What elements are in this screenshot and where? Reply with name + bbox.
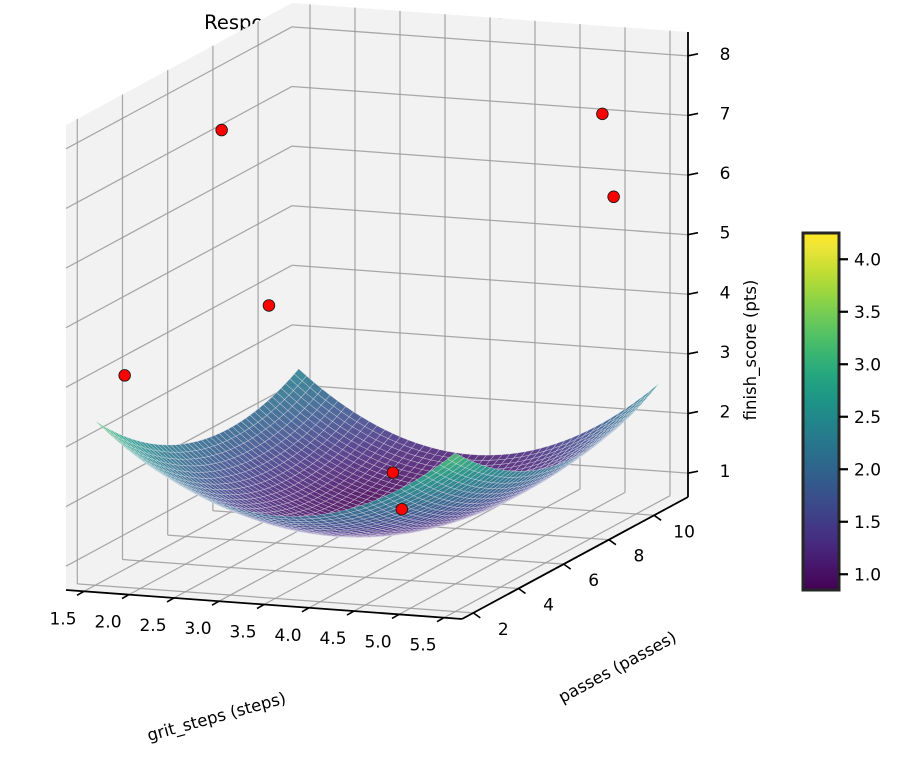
surface-plot-3d: 1.52.02.53.03.54.04.55.05.52468101234567… [0, 0, 902, 775]
y-axis-tick-label: 6 [588, 571, 599, 591]
scatter-point-marker [608, 191, 620, 203]
z-axis-tickmark [688, 113, 698, 115]
x-axis-tick-label: 2.5 [139, 616, 166, 636]
x-axis-label: grit_steps (steps) [145, 688, 288, 746]
y-axis-tickmark [609, 540, 616, 545]
z-axis-tickmark [688, 352, 698, 354]
z-axis-label: finish_score (pts) [741, 280, 761, 421]
y-axis-tick-label: 10 [673, 522, 695, 542]
z-axis-tickmark [688, 471, 698, 473]
z-axis-tick-label: 8 [720, 45, 731, 65]
x-axis-tick-label: 4.0 [274, 626, 301, 646]
z-axis-tick-label: 2 [720, 403, 731, 423]
y-axis-tickmark [564, 564, 571, 569]
y-axis-tickmark [473, 613, 480, 618]
scatter-point-marker [387, 467, 399, 479]
scatter-point-marker [119, 370, 131, 382]
z-axis-tickmark [688, 412, 698, 414]
y-axis-tickmark [654, 515, 661, 520]
z-axis-tick-label: 7 [720, 105, 731, 125]
z-axis-tick-label: 3 [720, 343, 731, 363]
x-axis-tick-label: 3.5 [229, 623, 256, 643]
x-axis-tick-label: 1.5 [49, 609, 76, 629]
y-axis-tick-label: 4 [543, 596, 554, 616]
colorbar-tick-label: 4.0 [854, 250, 881, 270]
y-axis-label: passes (passes) [555, 628, 679, 707]
colorbar-tick-label: 1.5 [854, 513, 881, 533]
colorbar-tick-label: 3.5 [854, 303, 881, 323]
colorbar-tick-label: 2.0 [854, 460, 881, 480]
x-axis-tick-label: 4.5 [319, 629, 346, 649]
z-axis-tick-label: 1 [720, 462, 731, 482]
z-axis-tickmark [688, 54, 698, 56]
y-axis-tickmark [519, 589, 526, 594]
colorbar-tick-label: 1.0 [854, 565, 881, 585]
scatter-point-marker [216, 124, 228, 136]
colorbar-tick-label: 3.0 [854, 355, 881, 375]
z-axis-tick-label: 5 [720, 224, 731, 244]
z-axis-tickmark [688, 173, 698, 175]
x-axis-tick-label: 5.5 [409, 636, 436, 656]
y-axis-tick-label: 2 [498, 620, 509, 640]
x-axis-tick-label: 5.0 [364, 632, 391, 652]
z-axis-tick-label: 4 [720, 283, 731, 303]
figure-canvas: Response Surface: finish_score grit_step… [0, 0, 902, 775]
x-axis-tick-label: 3.0 [184, 619, 211, 639]
colorbar-tick-label: 2.5 [854, 408, 881, 428]
colorbar: 1.01.52.02.53.03.54.0 [803, 233, 881, 591]
scatter-point-marker [263, 300, 275, 312]
scatter-point-marker [597, 108, 609, 120]
z-axis-tick-label: 6 [720, 164, 731, 184]
scatter-point-marker [396, 503, 408, 515]
y-axis-tick-label: 8 [633, 547, 644, 567]
x-axis-tick-label: 2.0 [94, 613, 121, 633]
z-axis-tickmark [688, 292, 698, 294]
z-axis-tickmark [688, 233, 698, 235]
